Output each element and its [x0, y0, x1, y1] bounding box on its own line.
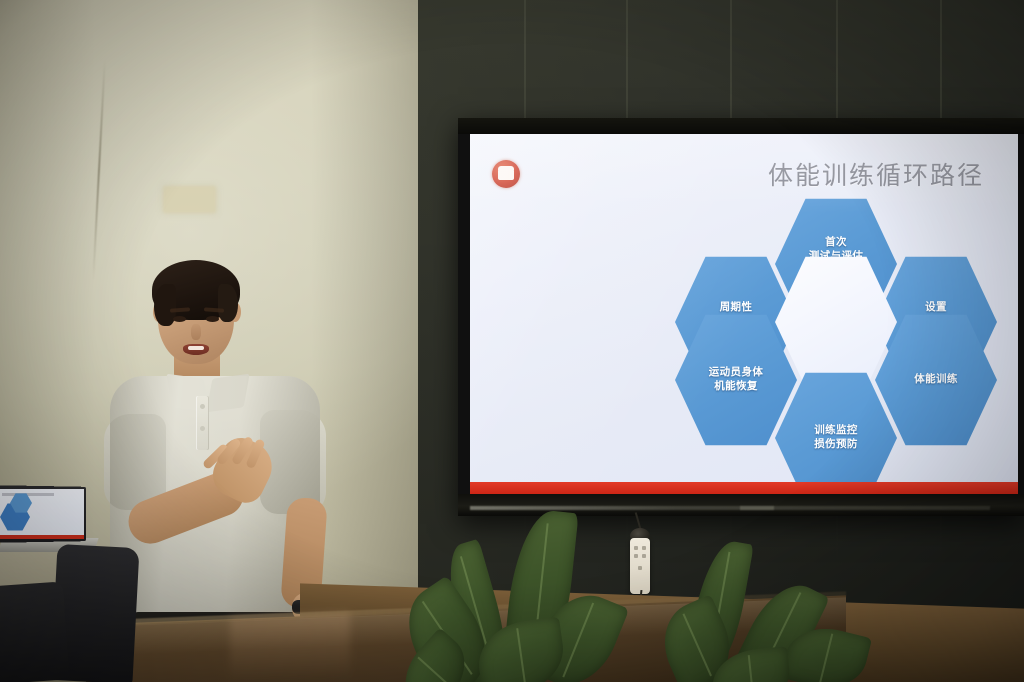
hexagon-bottom-label: 训练监控 损伤预防 [814, 424, 858, 452]
leaf-vein [819, 633, 833, 682]
presenter-eye-right [206, 316, 219, 322]
hexagon-diagram: 首次 测试与评估 要解决的问题 训练动机 周期性 测试与评估 4-8周 设置 训… [666, 196, 1006, 494]
hexagon-bottom[interactable]: 训练监控 损伤预防 [775, 370, 897, 494]
foreground-plant-right [660, 530, 880, 682]
presentation-photo-scene: 体能训练循环路径 首次 测试与评估 要解决的问题 训练动机 周期性 测试与评估 … [0, 0, 1024, 682]
wall-patch-mark [163, 186, 216, 213]
laptop-titlebar [2, 493, 54, 496]
presenter-nose [191, 324, 201, 340]
slide-title: 体能训练循环路径 [470, 156, 984, 192]
display-screen[interactable]: 体能训练循环路径 首次 测试与评估 要解决的问题 训练动机 周期性 测试与评估 … [470, 134, 1018, 494]
display-top-bezel [458, 118, 1024, 134]
chair-left-front[interactable] [0, 581, 69, 682]
leaf-vein [516, 628, 526, 682]
table-reflection [230, 612, 350, 682]
slide-bottom-accent-bar [470, 482, 1018, 494]
presenter-teeth [188, 346, 204, 350]
hexagon-lower-right-label: 体能训练 [914, 373, 958, 387]
presenter-eye-left [173, 316, 186, 322]
presenter-hair-side-right [218, 284, 238, 322]
leaf-vein [418, 657, 453, 682]
leaf-vein [748, 655, 755, 682]
hexagon-lower-left-label: 运动员身体 机能恢复 [709, 366, 764, 394]
laptop-slide-accent-bar [0, 535, 84, 539]
leaf-vein [682, 613, 711, 677]
leaf-vein [562, 602, 594, 677]
presentation-slide: 体能训练循环路径 首次 测试与评估 要解决的问题 训练动机 周期性 测试与评估 … [470, 134, 1018, 494]
laptop-screen[interactable] [0, 489, 84, 539]
